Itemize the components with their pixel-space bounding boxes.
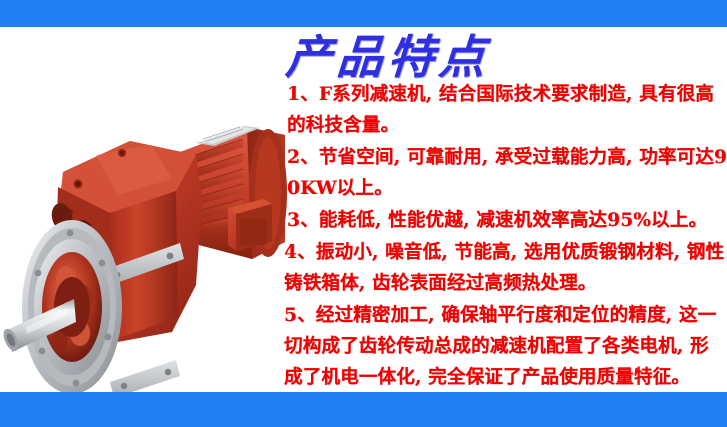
bottom-accent-bar — [0, 392, 727, 427]
mounting-strap-lower — [110, 360, 180, 392]
page-title: 产品特点 — [284, 31, 492, 83]
top-accent-bar — [0, 0, 727, 27]
feature-item-2: 2、节省空间, 可靠耐用, 承受过载能力高, 功率可达90KW以上。 — [276, 142, 727, 204]
terminal-box — [228, 199, 272, 251]
gearmotor-illustration — [0, 27, 292, 392]
text-panel: 产品特点 1、F系列减速机, 结合国际技术要求制造, 具有很高的科技含量。 2、… — [276, 27, 727, 392]
feature-item-1: 1、F系列减速机, 结合国际技术要求制造, 具有很高的科技含量。 — [276, 79, 727, 141]
product-feature-banner: 产品特点 1、F系列减速机, 结合国际技术要求制造, 具有很高的科技含量。 2、… — [0, 0, 727, 427]
feature-list: 1、F系列减速机, 结合国际技术要求制造, 具有很高的科技含量。 2、节省空间,… — [276, 79, 727, 394]
feature-item-4: 4、振动小, 噪音低, 节能高, 选用优质锻钢材料, 钢性铸铁箱体, 齿轮表面经… — [276, 237, 727, 299]
feature-item-5: 5、经过精密加工, 确保轴平行度和定位的精度, 这一切构成了齿轮传动总成的减速机… — [276, 300, 727, 393]
product-photo — [0, 27, 292, 392]
feature-item-3: 3、能耗低, 性能优越, 减速机效率高达95%以上。 — [276, 205, 727, 236]
